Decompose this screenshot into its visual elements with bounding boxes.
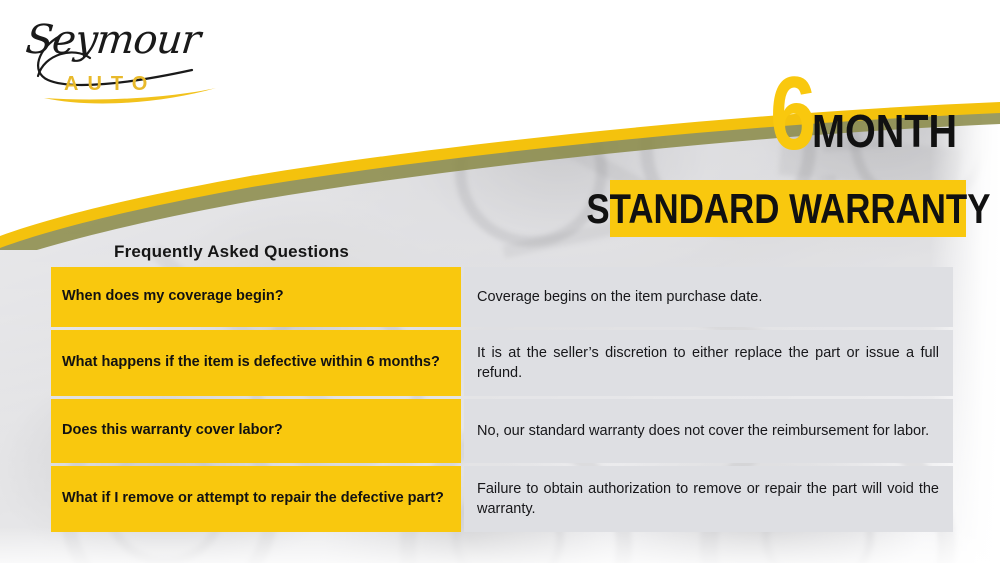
logo-wordmark: Seymour [24, 20, 202, 60]
seymour-auto-logo: Seymour AUTO [20, 14, 230, 114]
faq-heading: Frequently Asked Questions [114, 242, 349, 262]
table-row: What if I remove or attempt to repair th… [51, 466, 953, 532]
faq-answer: No, our standard warranty does not cover… [464, 399, 953, 463]
faq-answer: Coverage begins on the item purchase dat… [464, 267, 953, 327]
warranty-term-number: 6 [770, 70, 815, 158]
table-row: When does my coverage begin? Coverage be… [51, 267, 953, 327]
table-row: What happens if the item is defective wi… [51, 330, 953, 396]
table-row: Does this warranty cover labor? No, our … [51, 399, 953, 463]
logo-subtext: AUTO [64, 74, 156, 94]
faq-question: What if I remove or attempt to repair th… [51, 466, 461, 532]
faq-answer: Failure to obtain authorization to remov… [464, 466, 953, 532]
faq-answer: It is at the seller’s discretion to eith… [464, 330, 953, 396]
faq-table: When does my coverage begin? Coverage be… [48, 264, 956, 535]
warranty-slide: Seymour AUTO 6 MONTH STANDARD WARRANTY F… [0, 0, 1000, 563]
standard-warranty-banner: STANDARD WARRANTY [610, 180, 966, 237]
faq-question: When does my coverage begin? [51, 267, 461, 327]
faq-question: What happens if the item is defective wi… [51, 330, 461, 396]
warranty-term-headline: 6 MONTH [770, 54, 980, 158]
standard-warranty-label: STANDARD WARRANTY [586, 188, 990, 230]
faq-question: Does this warranty cover labor? [51, 399, 461, 463]
warranty-term-unit: MONTH [812, 108, 957, 154]
